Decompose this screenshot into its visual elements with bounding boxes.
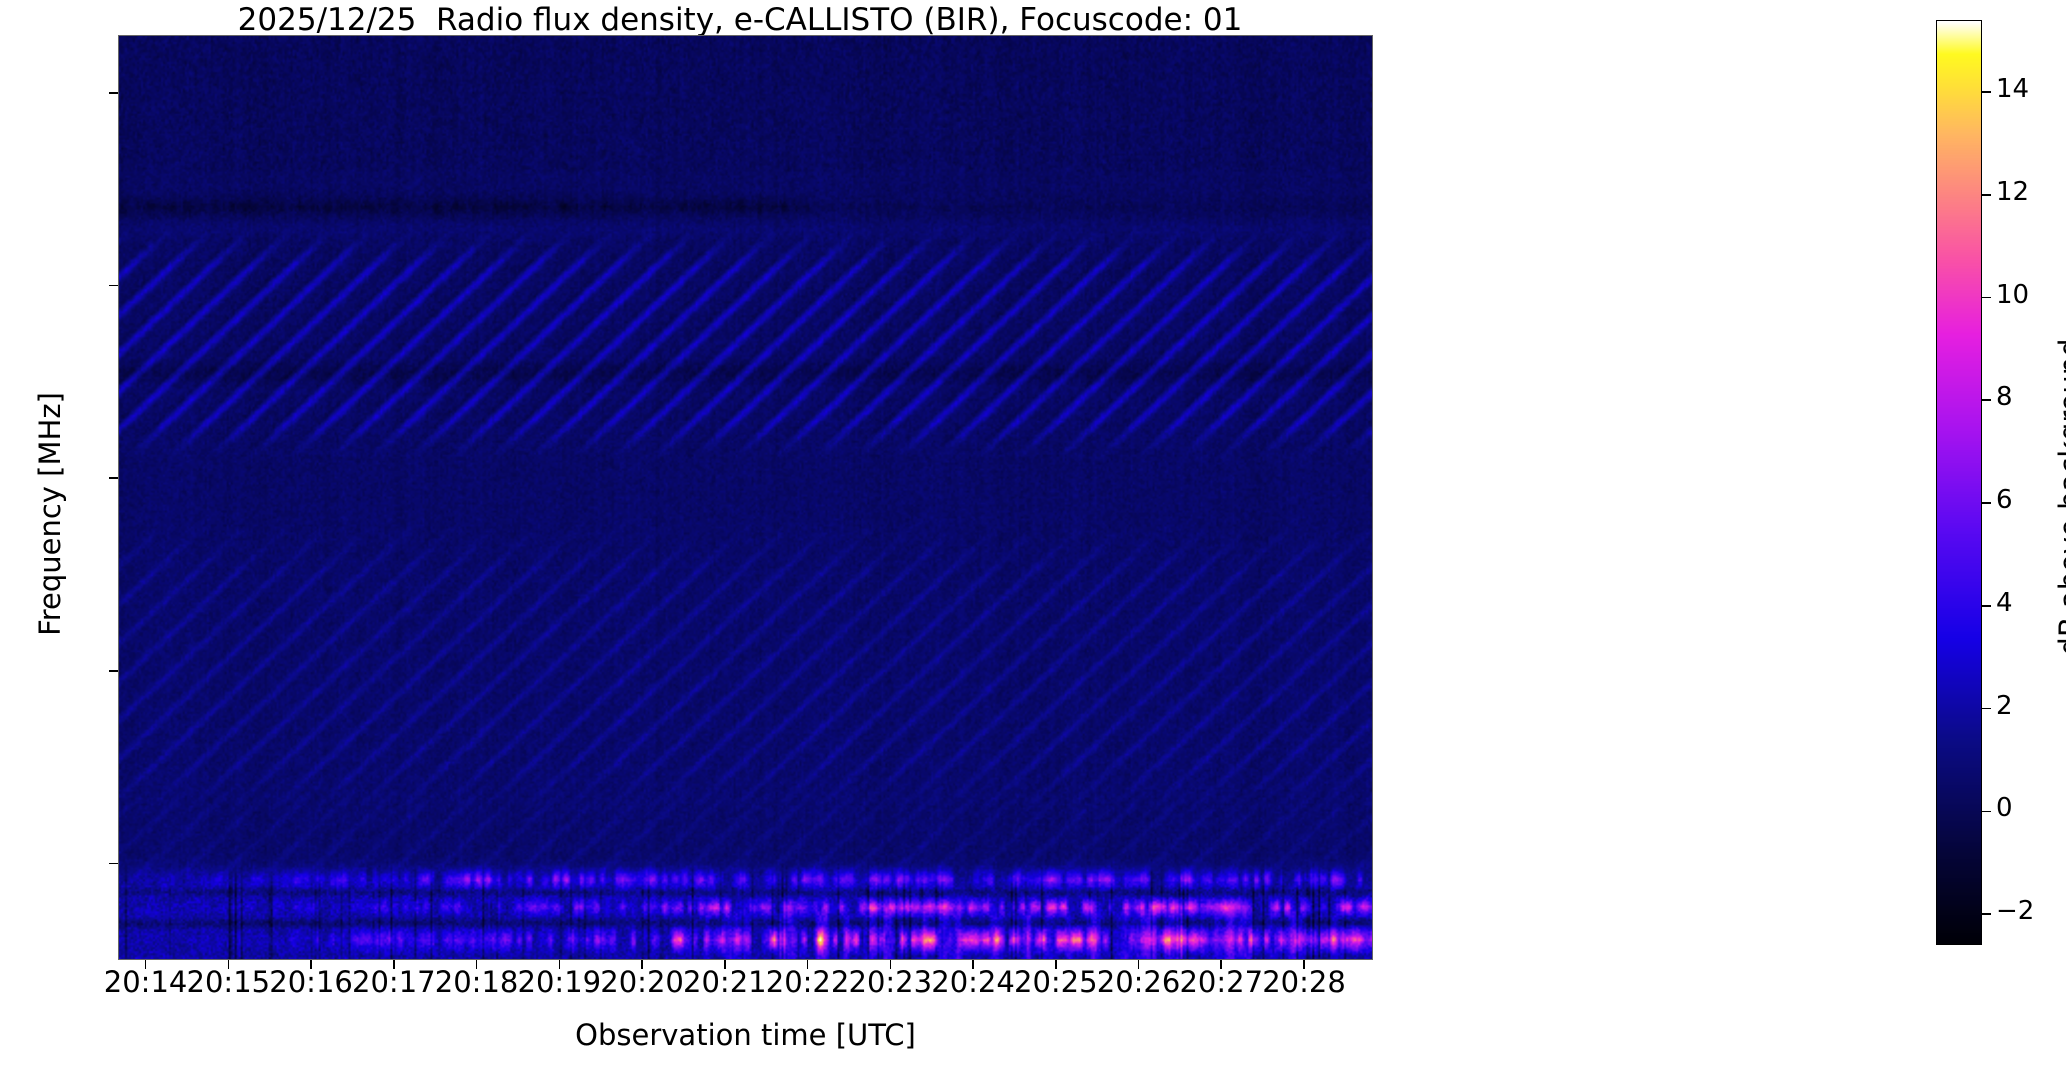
spectrogram-canvas xyxy=(119,36,1372,959)
y-tick-mark xyxy=(109,670,118,672)
x-tick-label: 20:28 xyxy=(1214,965,1394,999)
colorbar-tick-label: 4 xyxy=(1996,588,2056,618)
colorbar-tick-mark xyxy=(1982,194,1991,196)
colorbar-label: dB above background xyxy=(2053,187,2066,807)
colorbar-tick-label: 14 xyxy=(1996,74,2056,104)
colorbar-tick-label: 12 xyxy=(1996,177,2056,207)
colorbar-tick-mark xyxy=(1982,297,1991,299)
colorbar-tick-mark xyxy=(1982,708,1991,710)
colorbar-tick-mark xyxy=(1982,811,1991,813)
spectrogram-plot-area xyxy=(118,35,1373,960)
colorbar-tick-mark xyxy=(1982,502,1991,504)
colorbar-tick-mark xyxy=(1982,91,1991,93)
y-tick-mark xyxy=(109,285,118,287)
colorbar-tick-label: 0 xyxy=(1996,793,2056,823)
x-axis-label: Observation time [UTC] xyxy=(118,1018,1373,1052)
spectrogram-figure: 2025/12/25 Radio flux density, e-CALLIST… xyxy=(0,0,2066,1067)
y-tick-mark xyxy=(109,863,118,865)
colorbar-tick-label: 6 xyxy=(1996,485,2056,515)
colorbar-tick-label: 10 xyxy=(1996,280,2056,310)
y-tick-mark xyxy=(109,92,118,94)
colorbar-tick-mark xyxy=(1982,399,1991,401)
colorbar-gradient xyxy=(1937,21,1981,944)
colorbar-tick-label: −2 xyxy=(1996,896,2056,926)
colorbar-tick-label: 2 xyxy=(1996,691,2056,721)
y-tick-mark xyxy=(109,477,118,479)
colorbar-tick-mark xyxy=(1982,605,1991,607)
colorbar-tick-label: 8 xyxy=(1996,382,2056,412)
colorbar xyxy=(1936,20,1982,945)
colorbar-tick-mark xyxy=(1982,913,1991,915)
page-title: 2025/12/25 Radio flux density, e-CALLIST… xyxy=(0,2,1480,38)
y-axis-label: Frequency [MHz] xyxy=(33,14,67,1014)
